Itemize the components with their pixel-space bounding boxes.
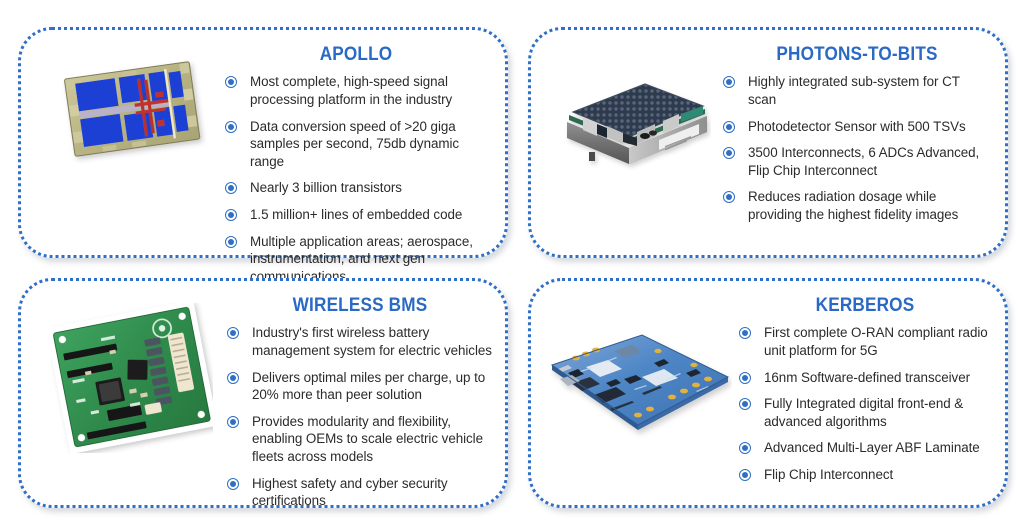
list-item-text: Advanced Multi-Layer ABF Laminate xyxy=(764,440,980,455)
list-item-text: Reduces radiation dosage while providing… xyxy=(748,189,958,222)
list-item: 3500 Interconnects, 6 ADCs Advanced, Fli… xyxy=(723,144,991,179)
list-item-text: Flip Chip Interconnect xyxy=(764,467,893,482)
bullet-dot-icon xyxy=(739,442,751,454)
list-item: Nearly 3 billion transistors xyxy=(225,179,487,197)
list-item: First complete O-RAN compliant radio uni… xyxy=(739,324,991,359)
photons-to-bits-module-photo xyxy=(559,76,711,188)
product-card-photons-to-bits: PHOTONS-TO-BITS Highly integrated sub-sy… xyxy=(528,27,1008,258)
product-card-apollo: APOLLO Most complete, high-speed signal … xyxy=(18,27,508,258)
bullet-dot-icon xyxy=(225,121,237,133)
card-title-wireless-bms: WIRELESS BMS xyxy=(243,295,477,315)
list-item-text: Highly integrated sub-system for CT scan xyxy=(748,74,960,107)
bullet-dot-icon xyxy=(723,191,735,203)
list-item-text: Highest safety and cyber security certif… xyxy=(252,476,448,509)
card-title-kerberos: KERBEROS xyxy=(754,295,976,315)
list-item: Delivers optimal miles per charge, up to… xyxy=(227,369,493,404)
list-item-text: Photodetector Sensor with 500 TSVs xyxy=(748,119,966,134)
photons-image-container xyxy=(531,30,723,188)
apollo-feature-list: Most complete, high-speed signal process… xyxy=(225,73,487,285)
bullet-dot-icon xyxy=(739,469,751,481)
list-item-text: Delivers optimal miles per charge, up to… xyxy=(252,370,485,403)
list-item: Fully Integrated digital front-end & adv… xyxy=(739,395,991,430)
list-item: 16nm Software-defined transceiver xyxy=(739,369,991,387)
bullet-dot-icon xyxy=(227,327,239,339)
list-item: Reduces radiation dosage while providing… xyxy=(723,188,991,223)
list-item-text: 1.5 million+ lines of embedded code xyxy=(250,207,462,222)
bullet-dot-icon xyxy=(225,236,237,248)
apollo-content: APOLLO Most complete, high-speed signal … xyxy=(225,30,505,285)
list-item-text: Multiple application areas; aerospace, i… xyxy=(250,234,473,284)
kerberos-feature-list: First complete O-RAN compliant radio uni… xyxy=(739,324,991,483)
bullet-dot-icon xyxy=(723,147,735,159)
list-item: 1.5 million+ lines of embedded code xyxy=(225,206,487,224)
kerberos-blue-board-photo xyxy=(546,321,732,441)
apollo-image-container xyxy=(21,30,225,164)
photons-feature-list: Highly integrated sub-system for CT scan… xyxy=(723,73,991,223)
product-highlights-board: APOLLO Most complete, high-speed signal … xyxy=(0,0,1022,526)
card-title-apollo: APOLLO xyxy=(241,44,472,64)
bullet-dot-icon xyxy=(723,76,735,88)
wireless-bms-green-board-photo xyxy=(51,303,213,453)
kerberos-image-container xyxy=(531,281,739,441)
list-item: Provides modularity and flexibility, ena… xyxy=(227,413,493,466)
list-item: Data conversion speed of >20 giga sample… xyxy=(225,118,487,171)
list-item-text: 3500 Interconnects, 6 ADCs Advanced, Fli… xyxy=(748,145,979,178)
list-item-text: Nearly 3 billion transistors xyxy=(250,180,402,195)
bullet-dot-icon xyxy=(227,478,239,490)
bullet-dot-icon xyxy=(225,209,237,221)
list-item-text: First complete O-RAN compliant radio uni… xyxy=(764,325,988,358)
list-item-text: Fully Integrated digital front-end & adv… xyxy=(764,396,963,429)
list-item: Highest safety and cyber security certif… xyxy=(227,475,493,510)
list-item-text: Data conversion speed of >20 giga sample… xyxy=(250,119,459,169)
photons-content: PHOTONS-TO-BITS Highly integrated sub-sy… xyxy=(723,30,1005,224)
apollo-silicon-die-photo xyxy=(57,52,207,164)
list-item: Photodetector Sensor with 500 TSVs xyxy=(723,118,991,136)
product-card-wireless-bms: WIRELESS BMS Industry's first wireless b… xyxy=(18,278,508,508)
bullet-dot-icon xyxy=(739,372,751,384)
bullet-dot-icon xyxy=(739,398,751,410)
list-item-text: Most complete, high-speed signal process… xyxy=(250,74,452,107)
bullet-dot-icon xyxy=(723,121,735,133)
list-item: Advanced Multi-Layer ABF Laminate xyxy=(739,439,991,457)
product-card-kerberos: KERBEROS First complete O-RAN compliant … xyxy=(528,278,1008,508)
bullet-dot-icon xyxy=(225,182,237,194)
wireless-bms-content: WIRELESS BMS Industry's first wireless b… xyxy=(227,281,505,510)
list-item: Most complete, high-speed signal process… xyxy=(225,73,487,108)
list-item-text: Industry's first wireless battery manage… xyxy=(252,325,492,358)
list-item: Industry's first wireless battery manage… xyxy=(227,324,493,359)
bullet-dot-icon xyxy=(225,76,237,88)
bullet-dot-icon xyxy=(227,416,239,428)
wireless-bms-feature-list: Industry's first wireless battery manage… xyxy=(227,324,493,509)
card-title-photons-to-bits: PHOTONS-TO-BITS xyxy=(739,44,975,64)
list-item-text: Provides modularity and flexibility, ena… xyxy=(252,414,483,464)
bullet-dot-icon xyxy=(227,372,239,384)
wireless-bms-image-container xyxy=(21,281,227,453)
list-item-text: 16nm Software-defined transceiver xyxy=(764,370,970,385)
list-item: Flip Chip Interconnect xyxy=(739,466,991,484)
kerberos-content: KERBEROS First complete O-RAN compliant … xyxy=(739,281,1005,484)
list-item: Highly integrated sub-system for CT scan xyxy=(723,73,991,108)
bullet-dot-icon xyxy=(739,327,751,339)
